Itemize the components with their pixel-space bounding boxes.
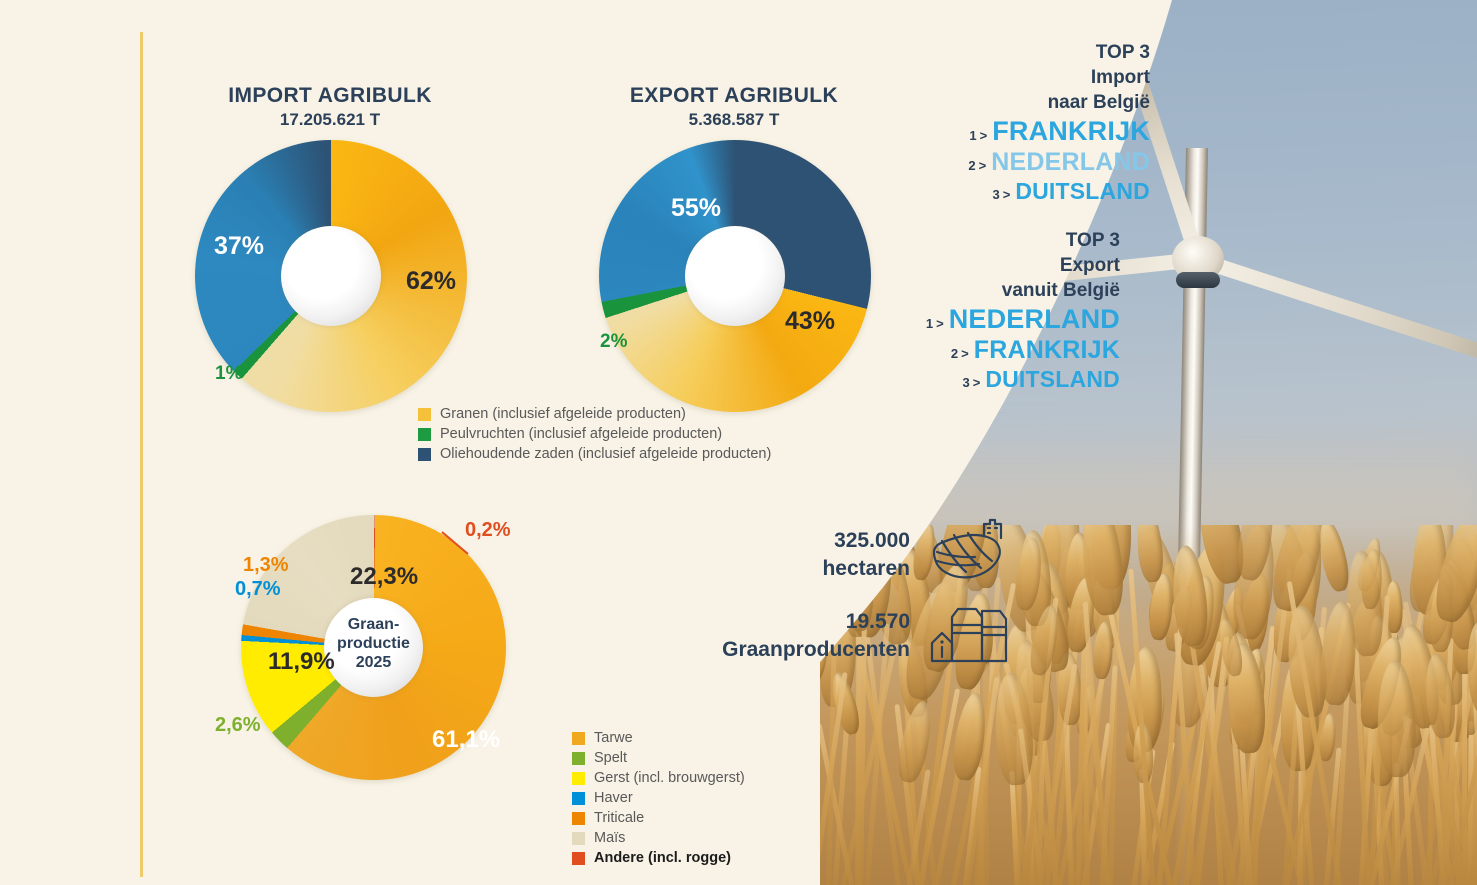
top3-export-rank: 2 — [951, 346, 958, 361]
production-legend-swatch — [572, 852, 585, 865]
production-legend: TarweSpeltGerst (incl. brouwgerst)HaverT… — [572, 730, 745, 870]
top3-import-row: 3>DUITSLAND — [880, 178, 1150, 205]
agribulk-legend-swatch — [418, 448, 431, 461]
import-pie-hole — [281, 226, 381, 326]
production-legend-label: Haver — [594, 790, 633, 806]
top3-export-heading-1: TOP 3 — [850, 228, 1120, 253]
top3-export-block: TOP 3 Export vanuit België 1>NEDERLAND2>… — [850, 228, 1120, 393]
top3-import-block: TOP 3 Import naar België 1>FRANKRIJK2>NE… — [880, 40, 1150, 205]
turbine-hub-ring — [1176, 272, 1220, 288]
production-legend-swatch — [572, 812, 585, 825]
infographic-root: IMPORT AGRIBULK 17.205.621 T 62% 1% 37% … — [0, 0, 1477, 885]
top3-import-row: 1>FRANKRIJK — [880, 116, 1150, 147]
top3-import-rank: 2 — [968, 158, 975, 173]
top3-import-country: FRANKRIJK — [992, 116, 1150, 147]
production-legend-item: Spelt — [572, 750, 745, 766]
import-pie-label-peulvruchten: 1% — [215, 363, 242, 385]
production-legend-label: Triticale — [594, 810, 644, 826]
top3-export-row: 2>FRANKRIJK — [850, 336, 1120, 365]
import-chart-subtitle: 17.205.621 T — [180, 110, 480, 130]
import-pie-label-oliehoudend: 37% — [214, 232, 264, 261]
agribulk-legend-item: Oliehoudende zaden (inclusief afgeleide … — [418, 446, 771, 462]
field-icon — [928, 516, 1006, 593]
production-legend-item: Tarwe — [572, 730, 745, 746]
production-legend-label: Maïs — [594, 830, 625, 846]
top3-import-rank: 1 — [969, 128, 976, 143]
top3-import-heading-1: TOP 3 — [880, 40, 1150, 65]
agribulk-legend-item: Granen (inclusief afgeleide producten) — [418, 406, 771, 422]
top3-import-rank: 3 — [992, 187, 999, 202]
top3-export-country: DUITSLAND — [985, 366, 1120, 393]
top3-export-row: 3>DUITSLAND — [850, 366, 1120, 393]
production-label-haver: 0,7% — [235, 578, 281, 601]
production-label-tarwe: 61,1% — [432, 726, 500, 754]
production-label-mais: 22,3% — [350, 563, 418, 591]
export-pie-chart — [599, 140, 871, 412]
top3-import-heading-3: naar België — [880, 90, 1150, 115]
production-pie-hole — [324, 598, 423, 697]
chevron-right-icon: > — [979, 158, 987, 173]
top3-export-heading-2: Export — [850, 253, 1120, 278]
agribulk-legend-item: Peulvruchten (inclusief afgeleide produc… — [418, 426, 771, 442]
production-legend-item: Andere (incl. rogge) — [572, 850, 745, 866]
production-legend-label: Tarwe — [594, 730, 633, 746]
stat-hectaren-value: 325.000 — [735, 527, 910, 554]
production-legend-swatch — [572, 792, 585, 805]
export-pie-label-granen: 43% — [785, 307, 835, 336]
top3-import-country: DUITSLAND — [1015, 178, 1150, 205]
production-legend-item: Gerst (incl. brouwgerst) — [572, 770, 745, 786]
agribulk-legend-label: Granen (inclusief afgeleide producten) — [440, 406, 686, 422]
production-label-spelt: 2,6% — [215, 714, 261, 737]
production-legend-item: Haver — [572, 790, 745, 806]
chevron-right-icon: > — [1003, 187, 1011, 202]
andere-leader-line — [440, 528, 480, 556]
stat-producenten-unit: Graanproducenten — [663, 636, 910, 663]
production-legend-item: Maïs — [572, 830, 745, 846]
production-legend-label: Spelt — [594, 750, 627, 766]
export-pie-label-oliehoudend: 55% — [671, 194, 721, 223]
top3-export-rank: 1 — [926, 316, 933, 331]
chevron-right-icon: > — [980, 128, 988, 143]
import-chart-title: IMPORT AGRIBULK — [180, 84, 480, 108]
top3-export-country: NEDERLAND — [949, 304, 1120, 335]
export-chart-title: EXPORT AGRIBULK — [584, 84, 884, 108]
export-pie-label-peulvruchten: 2% — [600, 331, 627, 353]
stat-producenten-value: 19.570 — [663, 608, 910, 635]
top3-export-rank: 3 — [962, 375, 969, 390]
agribulk-legend-label: Peulvruchten (inclusief afgeleide produc… — [440, 426, 722, 442]
accent-rule — [140, 32, 143, 877]
agribulk-legend-swatch — [418, 428, 431, 441]
production-legend-swatch — [572, 772, 585, 785]
stat-hectaren: 325.000 hectaren — [735, 516, 1006, 593]
export-chart-subtitle: 5.368.587 T — [584, 110, 884, 130]
import-pie-label-granen: 62% — [406, 267, 456, 296]
export-pie-hole — [685, 226, 785, 326]
production-legend-swatch — [572, 732, 585, 745]
silo-icon — [928, 597, 1020, 674]
agribulk-legend-label: Oliehoudende zaden (inclusief afgeleide … — [440, 446, 771, 462]
top3-import-row: 2>NEDERLAND — [880, 148, 1150, 177]
chevron-right-icon: > — [936, 316, 944, 331]
production-legend-item: Triticale — [572, 810, 745, 826]
top3-export-country: FRANKRIJK — [974, 336, 1120, 365]
production-legend-label: Gerst (incl. brouwgerst) — [594, 770, 745, 786]
stat-graanproducenten: 19.570 Graanproducenten — [663, 597, 1020, 674]
top3-import-country: NEDERLAND — [991, 148, 1150, 177]
production-label-gerst: 11,9% — [268, 648, 335, 676]
top3-import-heading-2: Import — [880, 65, 1150, 90]
production-label-triticale: 1,3% — [243, 554, 289, 577]
stat-hectaren-unit: hectaren — [735, 555, 910, 582]
top3-export-heading-3: vanuit België — [850, 278, 1120, 303]
agribulk-legend: Granen (inclusief afgeleide producten)Pe… — [418, 406, 771, 466]
production-legend-swatch — [572, 752, 585, 765]
chevron-right-icon: > — [961, 346, 969, 361]
agribulk-legend-swatch — [418, 408, 431, 421]
chevron-right-icon: > — [973, 375, 981, 390]
top3-export-row: 1>NEDERLAND — [850, 304, 1120, 335]
production-legend-swatch — [572, 832, 585, 845]
production-legend-label: Andere (incl. rogge) — [594, 850, 731, 866]
